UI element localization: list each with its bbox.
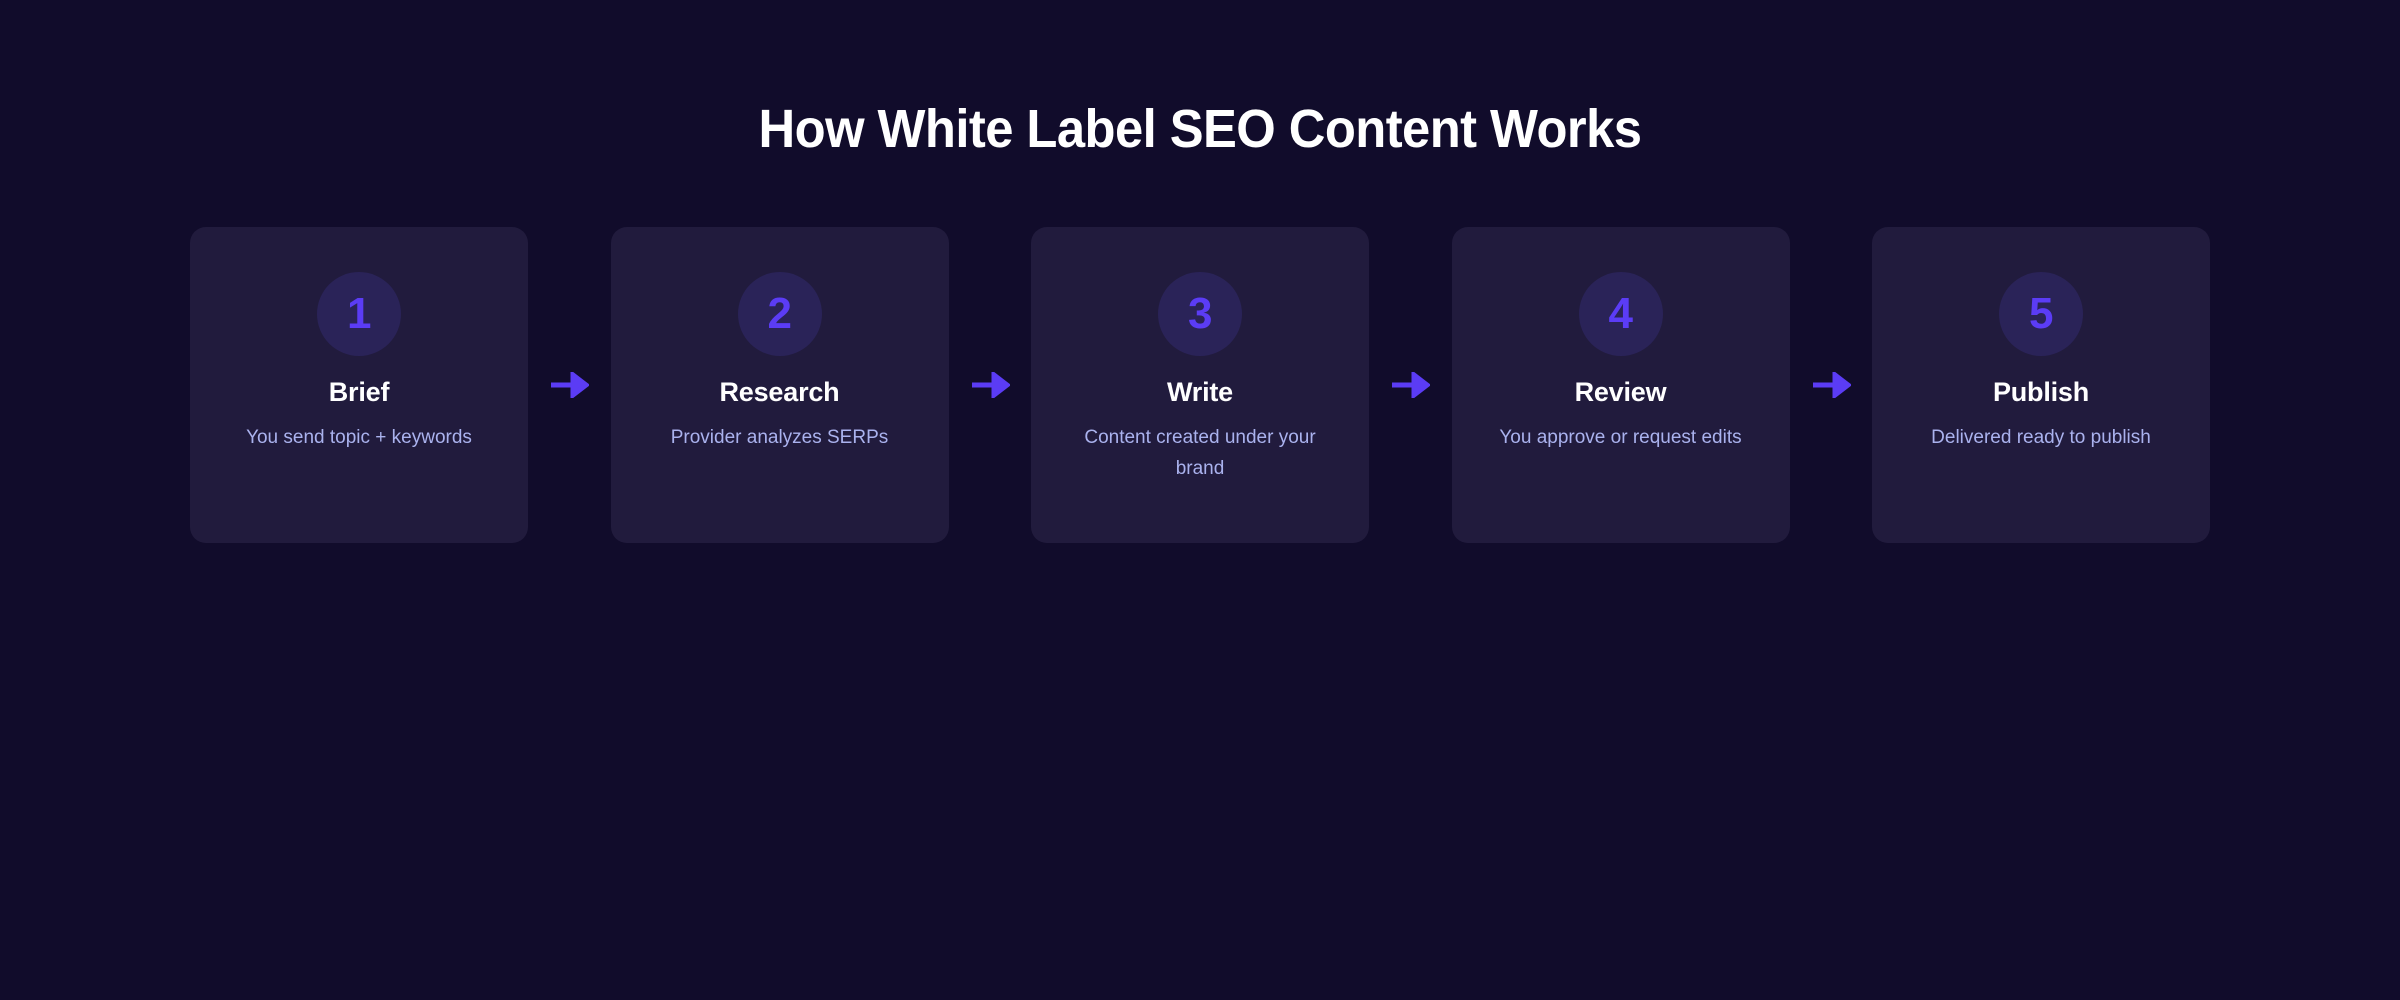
step-description: You approve or request edits	[1499, 422, 1741, 453]
step-card-4[interactable]: 4 Review You approve or request edits	[1452, 227, 1790, 543]
step-badge-circle: 4	[1579, 272, 1663, 356]
step-card-2[interactable]: 2 Research Provider analyzes SERPs	[611, 227, 949, 543]
step-card-3[interactable]: 3 Write Content created under your brand	[1031, 227, 1369, 543]
step-badge-circle: 2	[738, 272, 822, 356]
step-description: Provider analyzes SERPs	[671, 422, 889, 453]
step-description: You send topic + keywords	[246, 422, 472, 453]
step-badge-circle: 3	[1158, 272, 1242, 356]
step-card-5[interactable]: 5 Publish Delivered ready to publish	[1872, 227, 2210, 543]
process-diagram-page: How White Label SEO Content Works 1 Brie…	[0, 0, 2400, 1000]
step-number: 2	[768, 292, 792, 336]
step-badge-circle: 5	[1999, 272, 2083, 356]
arrow-right-icon	[1811, 372, 1851, 398]
step-connector-1	[528, 227, 610, 543]
step-title: Brief	[329, 376, 390, 408]
step-description: Delivered ready to publish	[1931, 422, 2151, 453]
step-title: Review	[1575, 376, 1667, 408]
step-number: 4	[1609, 292, 1633, 336]
arrow-right-icon	[1390, 372, 1430, 398]
step-number: 3	[1188, 292, 1212, 336]
step-title: Publish	[1993, 376, 2089, 408]
step-connector-2	[949, 227, 1031, 543]
arrow-right-icon	[970, 372, 1010, 398]
step-number: 1	[347, 292, 371, 336]
arrow-right-icon	[549, 372, 589, 398]
page-title: How White Label SEO Content Works	[72, 98, 2328, 160]
step-description: Content created under your brand	[1075, 422, 1325, 484]
step-card-1[interactable]: 1 Brief You send topic + keywords	[190, 227, 528, 543]
step-connector-4	[1790, 227, 1872, 543]
step-title: Write	[1167, 376, 1233, 408]
step-title: Research	[720, 376, 840, 408]
step-connector-3	[1369, 227, 1451, 543]
step-badge-circle: 1	[317, 272, 401, 356]
step-number: 5	[2029, 292, 2053, 336]
process-steps-row: 1 Brief You send topic + keywords 2 Rese…	[190, 227, 2210, 543]
